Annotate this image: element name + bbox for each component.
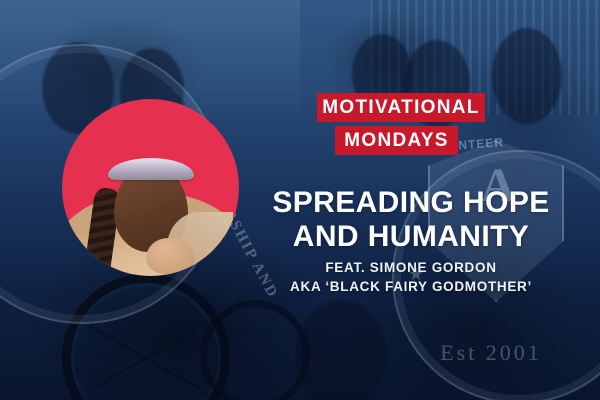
eyebrow-label-line2: MONDAYS [344,130,448,152]
eyebrow-banner-bottom: MONDAYS [335,126,458,155]
motivational-mondays-banner: THE NATIONAL SOCIETY OF LEADERSHIP AND ★… [0,0,600,400]
speaker-portrait-avatar [62,99,239,276]
eyebrow-banner-top: MOTIVATIONAL [317,93,485,122]
credit-block: FEAT. SIMONE GORDON AKA ‘BLACK FAIRY GOD… [246,258,576,296]
headline-line2: AND HUMANITY [246,220,576,254]
portrait-hand [146,238,194,274]
headline-line1: SPREADING HOPE [246,186,576,220]
portrait-figure [62,148,239,276]
credit-line2: AKA ‘BLACK FAIRY GODMOTHER’ [246,277,576,296]
portrait-headband [108,158,194,180]
credit-line1: FEAT. SIMONE GORDON [246,258,576,277]
headline: SPREADING HOPE AND HUMANITY [246,186,576,254]
eyebrow-label-line1: MOTIVATIONAL [322,97,479,119]
